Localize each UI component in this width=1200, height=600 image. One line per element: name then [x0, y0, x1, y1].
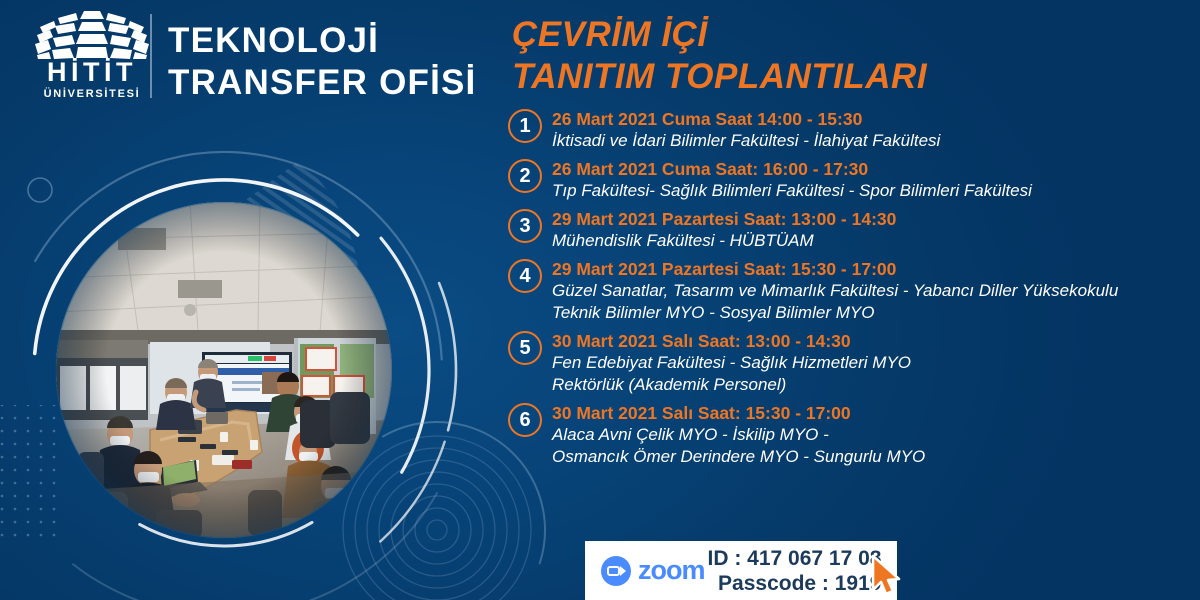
poster-canvas: HİTİT ÜNİVERSİTESİ TEKNOLOJİ TRANSFER OF… [0, 0, 1200, 600]
zoom-meeting-id: ID : 417 067 17 08 [708, 546, 882, 571]
schedule-item-datetime: 30 Mart 2021 Salı Saat: 13:00 - 14:30 [552, 330, 1198, 352]
schedule-item-body: 30 Mart 2021 Salı Saat: 13:00 - 14:30Fen… [552, 330, 1198, 396]
schedule-item-participants: Güzel Sanatlar, Tasarım ve Mimarlık Fakü… [552, 280, 1198, 324]
schedule-item-number-badge: 4 [508, 259, 542, 293]
zoom-credentials: ID : 417 067 17 08 Passcode : 1919 [708, 546, 882, 596]
schedule-item-datetime: 26 Mart 2021 Cuma Saat: 16:00 - 17:30 [552, 158, 1198, 180]
zoom-video-camera-icon [601, 556, 631, 586]
office-title-line1: TEKNOLOJİ [168, 20, 476, 62]
schedule-item-body: 29 Mart 2021 Pazartesi Saat: 15:30 - 17:… [552, 258, 1198, 324]
office-title-line2: TRANSFER OFİSİ [168, 62, 476, 104]
schedule-item-body: 26 Mart 2021 Cuma Saat: 16:00 - 17:30Tıp… [552, 158, 1198, 202]
schedule-item-datetime: 29 Mart 2021 Pazartesi Saat: 13:00 - 14:… [552, 208, 1198, 230]
schedule-item-participants: Tıp Fakültesi- Sağlık Bilimleri Fakültes… [552, 180, 1198, 202]
office-title: TEKNOLOJİ TRANSFER OFİSİ [168, 20, 476, 104]
schedule-item: 126 Mart 2021 Cuma Saat 14:00 - 15:30İkt… [508, 108, 1198, 152]
schedule-item: 530 Mart 2021 Salı Saat: 13:00 - 14:30Fe… [508, 330, 1198, 396]
schedule-item-participants-line: Mühendislik Fakültesi - HÜBTÜAM [552, 230, 1198, 252]
schedule-item-participants-line: Güzel Sanatlar, Tasarım ve Mimarlık Fakü… [552, 280, 1198, 302]
mouse-cursor-arrow-icon [870, 554, 904, 596]
zoom-info-box[interactable]: zoom ID : 417 067 17 08 Passcode : 1919 [585, 541, 897, 600]
schedule-item-participants-line: Teknik Bilimler MYO - Sosyal Bilimler MY… [552, 302, 1198, 324]
schedule-item-participants-line: Fen Edebiyat Fakültesi - Sağlık Hizmetle… [552, 352, 1198, 374]
logo-subtitle: ÜNİVERSİTESİ [26, 88, 158, 100]
schedule-item-participants: İktisadi ve İdari Bilimler Fakültesi - İ… [552, 130, 1198, 152]
schedule-item-participants: Alaca Avni Çelik MYO - İskilip MYO -Osma… [552, 424, 1198, 468]
schedule-item-datetime: 29 Mart 2021 Pazartesi Saat: 15:30 - 17:… [552, 258, 1198, 280]
schedule-item-body: 29 Mart 2021 Pazartesi Saat: 13:00 - 14:… [552, 208, 1198, 252]
hitit-university-logo: HİTİT ÜNİVERSİTESİ [26, 8, 158, 106]
schedule-list: 126 Mart 2021 Cuma Saat 14:00 - 15:30İkt… [508, 108, 1198, 474]
logo-divider [150, 14, 152, 98]
schedule-item-participants: Fen Edebiyat Fakültesi - Sağlık Hizmetle… [552, 352, 1198, 396]
schedule-item-number-badge: 2 [508, 159, 542, 193]
page-title-line1: ÇEVRİM İÇİ [512, 14, 927, 56]
schedule-item-number-badge: 5 [508, 331, 542, 365]
schedule-item: 226 Mart 2021 Cuma Saat: 16:00 - 17:30Tı… [508, 158, 1198, 202]
schedule-item-number-badge: 6 [508, 403, 542, 437]
schedule-item-participants-line: İktisadi ve İdari Bilimler Fakültesi - İ… [552, 130, 1198, 152]
zoom-passcode: Passcode : 1919 [708, 571, 882, 596]
schedule-item: 329 Mart 2021 Pazartesi Saat: 13:00 - 14… [508, 208, 1198, 252]
schedule-item-number-badge: 1 [508, 109, 542, 143]
hitit-dome-logo-icon [34, 10, 152, 60]
schedule-item-participants-line: Tıp Fakültesi- Sağlık Bilimleri Fakültes… [552, 180, 1198, 202]
schedule-item-datetime: 30 Mart 2021 Salı Saat: 15:30 - 17:00 [552, 402, 1198, 424]
schedule-item: 429 Mart 2021 Pazartesi Saat: 15:30 - 17… [508, 258, 1198, 324]
page-title-line2: TANITIM TOPLANTILARI [512, 56, 927, 98]
logo-wordmark: HİTİT [26, 58, 158, 86]
schedule-item-participants-line: Osmancık Ömer Derindere MYO - Sungurlu M… [552, 446, 1198, 468]
schedule-item-body: 30 Mart 2021 Salı Saat: 15:30 - 17:00Ala… [552, 402, 1198, 468]
schedule-item-number-badge: 3 [508, 209, 542, 243]
schedule-item-datetime: 26 Mart 2021 Cuma Saat 14:00 - 15:30 [552, 108, 1198, 130]
dot-grid-decoration [0, 405, 62, 545]
schedule-item-participants-line: Alaca Avni Çelik MYO - İskilip MYO - [552, 424, 1198, 446]
zoom-brand-label: zoom [638, 555, 705, 586]
page-title: ÇEVRİM İÇİ TANITIM TOPLANTILARI [512, 14, 927, 98]
schedule-item-participants-line: Rektörlük (Akademik Personel) [552, 374, 1198, 396]
schedule-item-body: 26 Mart 2021 Cuma Saat 14:00 - 15:30İkti… [552, 108, 1198, 152]
meeting-room-photo [56, 202, 392, 544]
schedule-item-participants: Mühendislik Fakültesi - HÜBTÜAM [552, 230, 1198, 252]
schedule-item: 630 Mart 2021 Salı Saat: 15:30 - 17:00Al… [508, 402, 1198, 468]
